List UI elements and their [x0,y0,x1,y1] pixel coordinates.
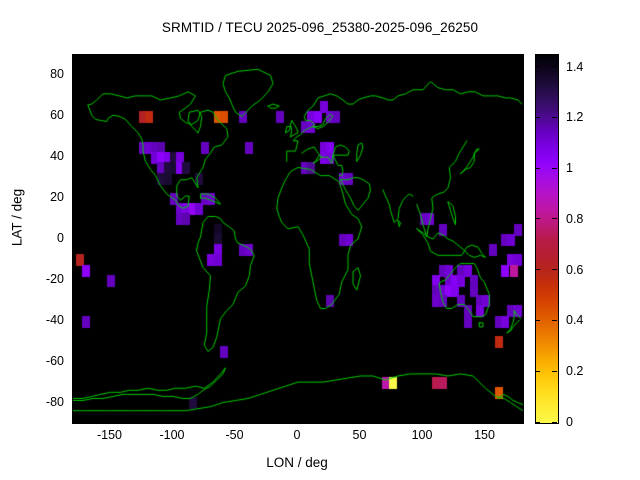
y-tick-mark [517,156,522,157]
colorbar-tick-label: 0.8 [566,212,583,226]
coastline-layer [73,55,523,423]
y-tick-mark [517,197,522,198]
y-tick-mark [517,74,522,75]
y-tick-mark [517,115,522,116]
plot-area [72,54,524,424]
x-tick-mark [422,417,423,422]
y-tick-mark [517,360,522,361]
colorbar-tick-mark [552,117,557,118]
y-tick-mark [517,319,522,320]
x-tick-mark [109,54,110,59]
colorbar-tick-mark [535,320,540,321]
colorbar-tick-mark [535,66,540,67]
y-tick-label: 80 [20,67,64,81]
y-tick-label: 40 [20,149,64,163]
x-tick-mark [172,54,173,59]
x-tick-mark [297,54,298,59]
colorbar-tick-label: 0.4 [566,313,583,327]
colorbar-tick-mark [552,66,557,67]
colorbar-tick-mark [552,269,557,270]
colorbar-tick-label: 0.2 [566,364,583,378]
x-tick-label: 50 [353,428,367,442]
y-tick-mark [72,156,77,157]
x-tick-mark [234,54,235,59]
y-tick-mark [72,238,77,239]
x-tick-mark [172,417,173,422]
x-tick-label: -50 [225,428,243,442]
colorbar-tick-label: 0 [566,415,573,429]
x-tick-mark [297,417,298,422]
y-tick-mark [72,74,77,75]
colorbar-tick-mark [535,117,540,118]
colorbar-tick-label: 1.4 [566,60,583,74]
figure-root: SRMTID / TECU 2025-096_25380-2025-096_26… [0,0,640,480]
y-tick-label: 0 [20,231,64,245]
x-tick-mark [109,417,110,422]
x-tick-mark [422,54,423,59]
x-tick-label: -150 [97,428,122,442]
y-tick-mark [72,115,77,116]
y-tick-mark [72,319,77,320]
y-tick-label: -60 [20,354,64,368]
colorbar-tick-mark [552,320,557,321]
x-tick-label: 150 [474,428,495,442]
x-tick-mark [484,417,485,422]
colorbar-tick-label: 1 [566,161,573,175]
x-axis-label: LON / deg [72,455,522,470]
x-tick-mark [359,417,360,422]
y-tick-mark [72,360,77,361]
colorbar-tick-mark [552,371,557,372]
y-tick-mark [517,401,522,402]
y-tick-mark [72,197,77,198]
x-tick-label: 100 [412,428,433,442]
colorbar-gradient [536,55,558,423]
colorbar-tick-mark [535,422,540,423]
y-tick-label: -80 [20,395,64,409]
colorbar-tick-mark [552,422,557,423]
x-tick-label: -100 [159,428,184,442]
x-tick-mark [484,54,485,59]
colorbar-tick-mark [535,371,540,372]
x-tick-mark [234,417,235,422]
y-tick-mark [517,278,522,279]
colorbar [535,54,559,424]
y-tick-mark [72,278,77,279]
y-tick-label: -40 [20,313,64,327]
y-tick-label: 20 [20,190,64,204]
colorbar-tick-label: 0.6 [566,263,583,277]
y-tick-label: 60 [20,108,64,122]
x-tick-mark [359,54,360,59]
colorbar-tick-mark [535,218,540,219]
y-axis-label: LAT / deg [10,173,25,263]
colorbar-tick-mark [535,269,540,270]
colorbar-tick-mark [552,168,557,169]
colorbar-tick-mark [535,168,540,169]
y-tick-mark [72,401,77,402]
colorbar-tick-label: 1.2 [566,110,583,124]
y-tick-mark [517,238,522,239]
x-tick-label: 0 [294,428,301,442]
colorbar-tick-mark [552,218,557,219]
chart-title: SRMTID / TECU 2025-096_25380-2025-096_26… [0,20,640,35]
y-tick-label: -20 [20,272,64,286]
